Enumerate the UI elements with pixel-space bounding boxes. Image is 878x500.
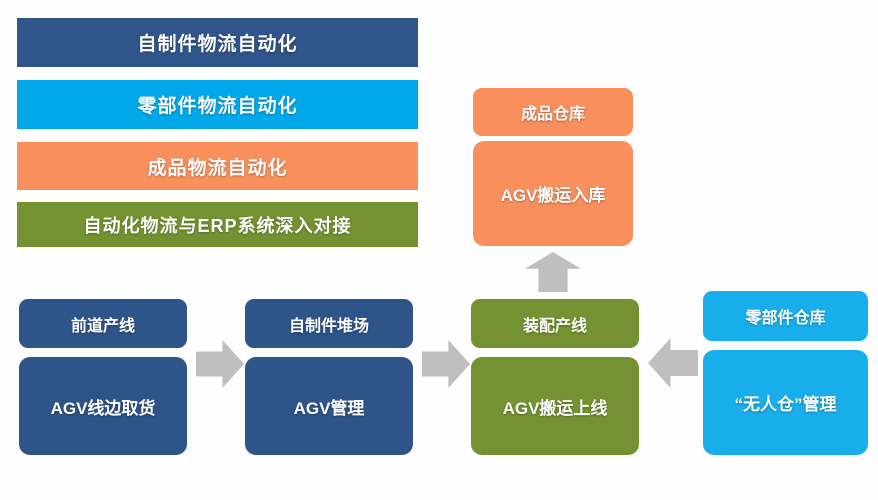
box-agv-transport-to-line: AGV搬运上线	[471, 357, 639, 455]
box-label: AGV管理	[294, 394, 365, 419]
banner-label: 零部件物流自动化	[137, 91, 297, 118]
box-label: 成品仓库	[521, 100, 585, 124]
box-label: AGV搬运上线	[503, 394, 608, 419]
banner-label: 自动化物流与ERP系统深入对接	[83, 212, 351, 238]
box-label: AGV线边取货	[51, 394, 156, 419]
banner-erp-integration: 自动化物流与ERP系统深入对接	[17, 202, 418, 247]
box-label: 零部件仓库	[745, 304, 825, 328]
box-label: AGV搬运入库	[501, 181, 606, 206]
box-label: “无人仓”管理	[735, 390, 837, 415]
arrow-right-icon-line2-to-line3	[422, 340, 470, 388]
box-finished-goods-warehouse: 成品仓库	[473, 88, 633, 136]
arrow-left-icon-line4-to-line3	[648, 338, 698, 388]
box-agv-management: AGV管理	[245, 357, 413, 455]
box-components-warehouse: 零部件仓库	[703, 291, 868, 341]
banner-finished-goods-logistics: 成品物流自动化	[17, 142, 418, 190]
box-unmanned-warehouse-management: “无人仓”管理	[703, 350, 868, 455]
box-assembly-production-line: 装配产线	[471, 299, 639, 348]
box-label: 自制件堆场	[289, 312, 369, 336]
diagram-canvas: 自制件物流自动化 零部件物流自动化 成品物流自动化 自动化物流与ERP系统深入对…	[0, 0, 878, 500]
box-upstream-production-line: 前道产线	[19, 299, 187, 348]
banner-self-made-parts-logistics: 自制件物流自动化	[17, 18, 418, 67]
box-self-made-parts-yard: 自制件堆场	[245, 299, 413, 348]
box-label: 装配产线	[523, 312, 587, 336]
box-agv-lineside-pickup: AGV线边取货	[19, 357, 187, 455]
arrow-up-icon-line3-to-finished-goods	[525, 252, 581, 292]
banner-label: 成品物流自动化	[147, 153, 287, 180]
box-label: 前道产线	[71, 312, 135, 336]
banner-label: 自制件物流自动化	[137, 29, 297, 56]
box-agv-transport-to-warehouse: AGV搬运入库	[473, 141, 633, 246]
arrow-right-icon-line1-to-line2	[196, 340, 244, 388]
banner-components-logistics: 零部件物流自动化	[17, 80, 418, 129]
